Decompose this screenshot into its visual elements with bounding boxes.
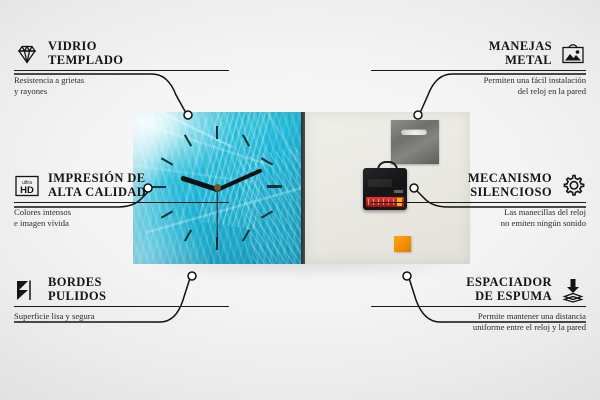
hanger-keyhole-slot — [401, 129, 427, 135]
gear-icon — [560, 173, 586, 199]
infographic-canvas: VIDRIO TEMPLADO Resistencia a grietas y … — [0, 0, 600, 400]
feature-description: Superficie lisa y segura — [14, 307, 229, 322]
feature-title: ESPACIADOR DE ESPUMA — [466, 276, 552, 303]
polished-edges-icon — [14, 277, 40, 303]
feature-callout-bordes-pulidos: BORDES PULIDOS Superficie lisa y segura — [14, 276, 229, 322]
hanger-plate — [391, 120, 439, 164]
feature-description: Las manecillas del reloj no emiten ningú… — [371, 203, 586, 228]
feature-description: Permite mantener una distancia uniforme … — [371, 307, 586, 332]
feature-callout-impresion-alta-calidad: ultra HD IMPRESIÓN DE ALTA CALIDAD Color… — [14, 172, 229, 228]
feature-callout-espaciador-de-espuma: ESPACIADOR DE ESPUMA Permite mantener un… — [371, 276, 586, 332]
feature-title: MECANISMO SILENCIOSO — [468, 172, 552, 199]
clock-tick — [216, 126, 218, 139]
feature-title: MANEJAS METAL — [489, 40, 552, 67]
feature-title: BORDES PULIDOS — [48, 276, 106, 303]
feature-description: Colores intensos e imagen vívida — [14, 203, 229, 228]
foam-spacer — [394, 236, 411, 252]
ultra-hd-icon: ultra HD — [14, 173, 40, 199]
feature-title: VIDRIO TEMPLADO — [48, 40, 123, 67]
feature-callout-mecanismo-silencioso: MECANISMO SILENCIOSO Las manecillas del … — [371, 172, 586, 228]
feature-description: Resistencia a grietas y rayones — [14, 71, 229, 96]
clock-tick — [184, 229, 192, 241]
svg-text:HD: HD — [20, 185, 34, 196]
clock-tick — [267, 185, 282, 188]
foam-spacer-arrow-icon — [560, 277, 586, 303]
diamond-icon — [14, 41, 40, 67]
feature-description: Permiten una fácil instalación del reloj… — [371, 71, 586, 96]
feature-callout-vidrio-templado: VIDRIO TEMPLADO Resistencia a grietas y … — [14, 40, 229, 96]
feature-callout-manejas-metal: MANEJAS METAL Permiten una fácil instala… — [371, 40, 586, 96]
picture-hanger-icon — [560, 41, 586, 67]
feature-title: IMPRESIÓN DE ALTA CALIDAD — [48, 172, 146, 199]
mechanism-hanging-loop — [377, 161, 398, 172]
